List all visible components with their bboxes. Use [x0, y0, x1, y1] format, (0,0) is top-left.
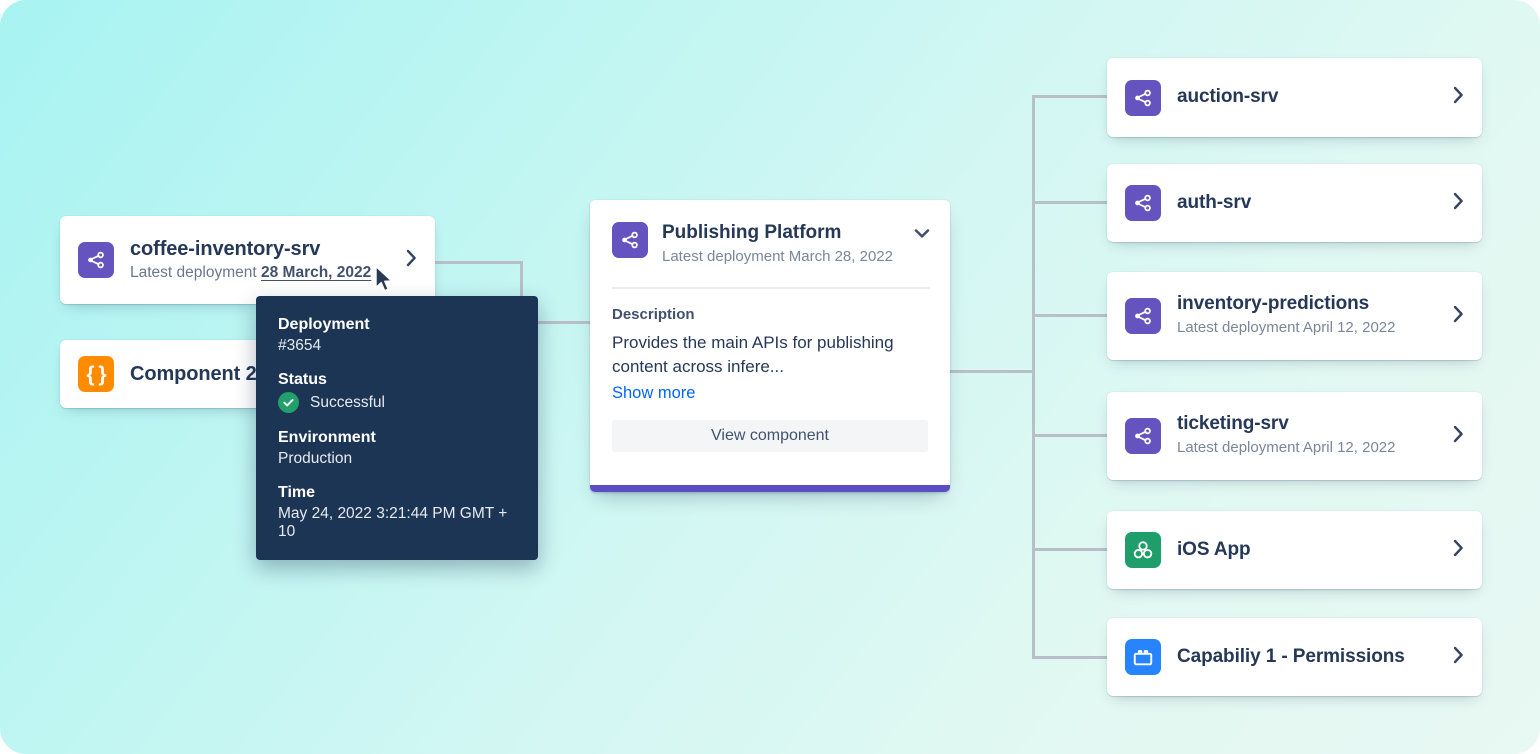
tooltip-status-value: Successful	[310, 394, 385, 412]
card-auction-srv[interactable]: auction-srv	[1107, 58, 1482, 137]
card-ios-app[interactable]: iOS App	[1107, 511, 1482, 589]
subtitle-prefix: Latest deployment	[130, 264, 261, 281]
page-title: Publishing Platform	[662, 222, 914, 245]
service-icon	[78, 242, 114, 278]
connector-coffee-horizontal	[435, 261, 523, 264]
card-title: iOS App	[1177, 539, 1443, 562]
connector-stub-inventory	[1032, 314, 1110, 317]
chevron-right-icon[interactable]	[1453, 305, 1464, 328]
check-circle-icon	[278, 392, 299, 413]
component-dependency-map: coffee-inventory-srv Latest deployment 2…	[0, 0, 1540, 754]
show-more-link[interactable]: Show more	[612, 384, 928, 403]
publishing-card-subtitle: Latest deployment March 28, 2022	[662, 248, 914, 265]
connector-stub-capability	[1032, 656, 1110, 659]
tooltip-time-label: Time	[278, 484, 516, 502]
card-auth-srv[interactable]: auth-srv	[1107, 164, 1482, 242]
card-title: Capabiliy 1 - Permissions	[1177, 646, 1443, 669]
chevron-right-icon[interactable]	[1453, 539, 1464, 562]
deployment-date-link[interactable]: 28 March, 2022	[261, 264, 371, 281]
chevron-down-icon[interactable]	[914, 226, 930, 244]
publishing-card-body: Description Provides the main APIs for p…	[590, 289, 950, 403]
service-icon	[1125, 298, 1161, 334]
chevron-right-icon[interactable]	[1453, 86, 1464, 109]
chevron-right-icon[interactable]	[1453, 192, 1464, 215]
braces-glyph: { }	[86, 364, 105, 385]
card-title: auth-srv	[1177, 192, 1443, 215]
connector-stub-ios	[1032, 548, 1110, 551]
card-publishing-platform[interactable]: Publishing Platform Latest deployment Ma…	[590, 200, 950, 492]
tooltip-status-label: Status	[278, 371, 516, 389]
chevron-right-icon[interactable]	[1453, 425, 1464, 448]
accent-bar	[590, 485, 950, 492]
card-subtitle: Latest deployment April 12, 2022	[1177, 438, 1443, 458]
connector-stub-ticketing	[1032, 434, 1110, 437]
service-icon	[1125, 185, 1161, 221]
description-text: Provides the main APIs for publishing co…	[612, 331, 928, 379]
connector-trunk	[1032, 95, 1035, 659]
card-coffee-inventory-srv[interactable]: coffee-inventory-srv Latest deployment 2…	[60, 216, 435, 304]
publishing-card-header: Publishing Platform Latest deployment Ma…	[590, 200, 950, 265]
tooltip-deployment-value: #3654	[278, 337, 516, 355]
capability-icon	[1125, 639, 1161, 675]
connector-platform-out	[949, 370, 1035, 373]
connector-stub-auction	[1032, 95, 1110, 98]
application-icon	[1125, 532, 1161, 568]
card-title: inventory-predictions	[1177, 293, 1443, 316]
card-subtitle: Latest deployment 28 March, 2022	[130, 263, 396, 284]
view-component-button[interactable]: View component	[612, 420, 928, 452]
status-badge: Successful	[278, 392, 516, 413]
card-capability-1-permissions[interactable]: Capabiliy 1 - Permissions	[1107, 618, 1482, 696]
library-braces-icon: { }	[78, 356, 114, 392]
tooltip-time-value: May 24, 2022 3:21:44 PM GMT + 10	[278, 505, 516, 541]
card-subtitle: Latest deployment April 12, 2022	[1177, 318, 1443, 338]
chevron-right-icon[interactable]	[1453, 646, 1464, 669]
card-ticketing-srv[interactable]: ticketing-srv Latest deployment April 12…	[1107, 392, 1482, 480]
service-icon	[612, 222, 648, 258]
chevron-right-icon[interactable]	[406, 249, 417, 272]
tooltip-deployment-label: Deployment	[278, 316, 516, 334]
deployment-tooltip: Deployment #3654 Status Successful Envir…	[256, 296, 538, 560]
tooltip-environment-label: Environment	[278, 429, 516, 447]
card-title: auction-srv	[1177, 86, 1443, 109]
connector-stub-auth	[1032, 201, 1110, 204]
tooltip-environment-value: Production	[278, 450, 516, 468]
service-icon	[1125, 80, 1161, 116]
card-title: coffee-inventory-srv	[130, 237, 396, 261]
card-title: ticketing-srv	[1177, 413, 1443, 436]
service-icon	[1125, 418, 1161, 454]
card-inventory-predictions[interactable]: inventory-predictions Latest deployment …	[1107, 272, 1482, 360]
description-label: Description	[612, 306, 928, 323]
